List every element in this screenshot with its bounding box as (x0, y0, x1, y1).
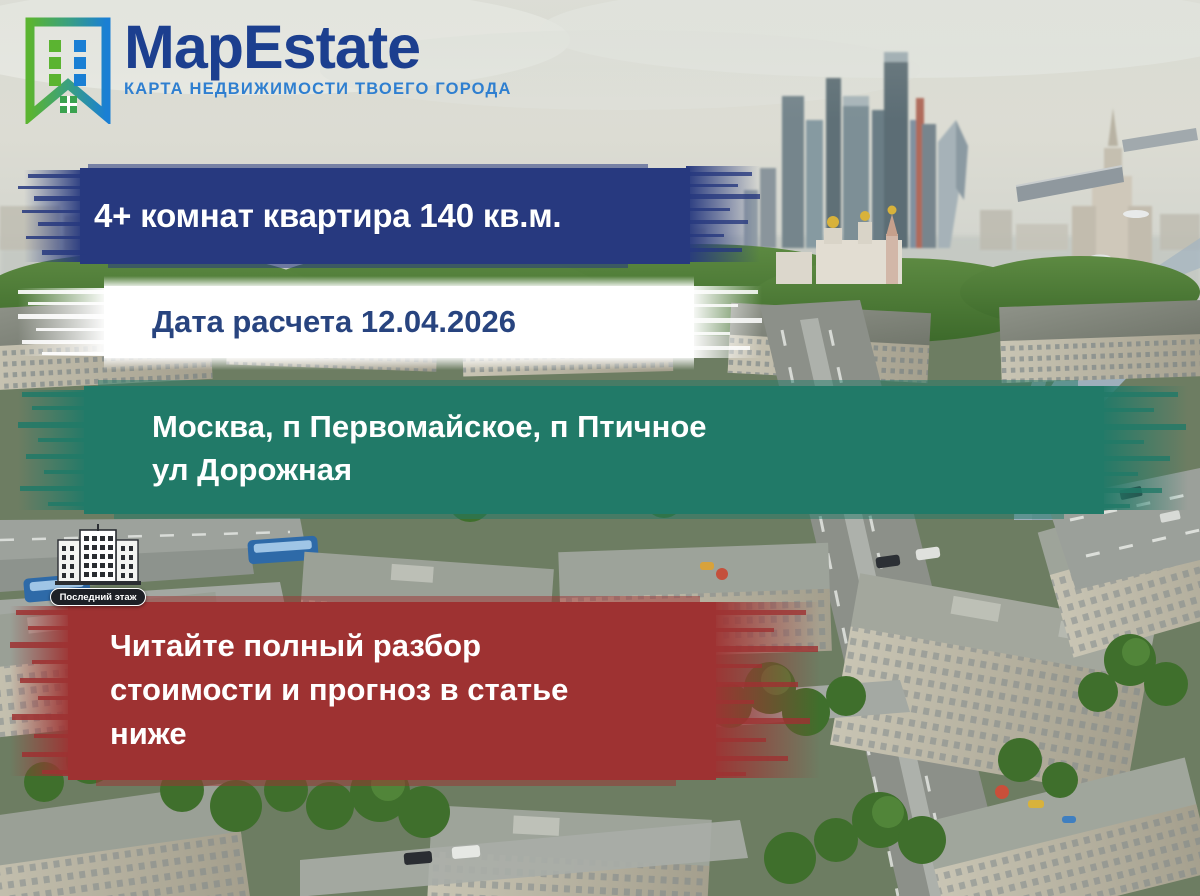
banner-cta-text: Читайте полный разбор стоимости и прогно… (10, 624, 820, 756)
brand-logo[interactable]: MapEstate КАРТА НЕДВИЖИМОСТИ ТВОЕГО ГОРО… (22, 14, 512, 124)
banner-address-text: Москва, п Первомайское, п Птичное ул Дор… (18, 406, 1188, 492)
banner-cta: Читайте полный разбор стоимости и прогно… (10, 592, 820, 788)
brand-tagline: КАРТА НЕДВИЖИМОСТИ ТВОЕГО ГОРОДА (124, 80, 512, 99)
banner-address: Москва, п Первомайское, п Птичное ул Дор… (18, 378, 1188, 520)
banner-rooms: 4+ комнат квартира 140 кв.м. (18, 164, 762, 268)
poster-canvas: MapEstate КАРТА НЕДВИЖИМОСТИ ТВОЕГО ГОРО… (0, 0, 1200, 896)
bookmark-building-icon (22, 14, 114, 124)
banner-date: Дата расчета 12.04.2026 (18, 272, 762, 372)
apartment-building-icon (53, 524, 143, 586)
brand-logo-text: MapEstate КАРТА НЕДВИЖИМОСТИ ТВОЕГО ГОРО… (124, 14, 512, 99)
last-floor-sticker: Последний этаж (38, 524, 158, 606)
banner-rooms-text: 4+ комнат квартира 140 кв.м. (18, 198, 762, 235)
banner-date-text: Дата расчета 12.04.2026 (18, 305, 762, 340)
last-floor-label: Последний этаж (50, 588, 147, 606)
brand-name: MapEstate (124, 18, 512, 78)
